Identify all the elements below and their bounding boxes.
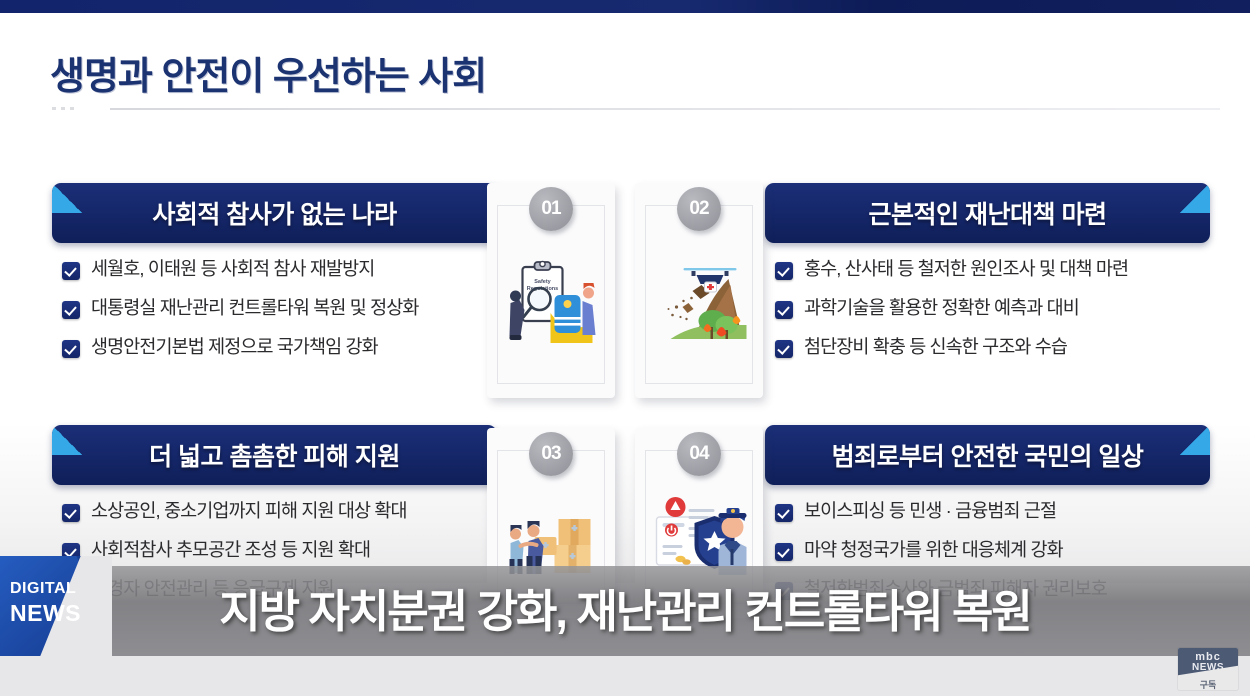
checkbox-icon (62, 504, 80, 522)
checkbox-icon (775, 543, 793, 561)
list-item-label: 소상공인, 중소기업까지 피해 지원 대상 확대 (91, 501, 407, 521)
top-navy-bar (0, 0, 1250, 13)
title-divider-dots (52, 107, 74, 110)
card-number-badge: 03 (529, 432, 573, 476)
panel-header: 범죄로부터 안전한 국민의 일상 (765, 425, 1210, 485)
list-item: 마약 청정국가를 위한 대응체계 강화 (775, 540, 1210, 561)
list-item: 소상공인, 중소기업까지 피해 지원 대상 확대 (62, 501, 497, 522)
bottom-strip (0, 656, 1250, 696)
panel-header-label: 범죄로부터 안전한 국민의 일상 (832, 437, 1144, 473)
title-divider (110, 108, 1220, 110)
list-item: 홍수, 산사태 등 철저한 원인조사 및 대책 마련 (775, 259, 1210, 280)
illustration-card-01: 01 Safety Regulations (487, 183, 615, 398)
card-number-badge: 02 (677, 187, 721, 231)
illustration-card-group: 01 Safety Regulations (487, 173, 767, 583)
checkbox-icon (62, 301, 80, 319)
digital-news-logo: DIGITAL NEWS (0, 556, 112, 656)
list-item-label: 대통령실 재난관리 컨트롤타워 복원 및 정상화 (91, 298, 418, 318)
list-item: 대통령실 재난관리 컨트롤타워 복원 및 정상화 (62, 298, 497, 319)
panel-header: 근본적인 재난대책 마련 (765, 183, 1210, 243)
list-item: 사회적참사 추모공간 조성 등 지원 확대 (62, 540, 497, 561)
logo-line-top: DIGITAL (10, 580, 76, 598)
checkbox-icon (62, 340, 80, 358)
list-item-label: 생명안전기본법 제정으로 국가책임 강화 (91, 337, 378, 357)
checkbox-icon (775, 340, 793, 358)
panel-top-right: 근본적인 재난대책 마련 홍수, 산사태 등 철저한 원인조사 및 대책 마련 … (765, 183, 1210, 376)
list-item-label: 첨단장비 확충 등 신속한 구조와 수습 (804, 337, 1067, 357)
checkbox-icon (775, 301, 793, 319)
checkbox-icon (775, 262, 793, 280)
list-item-label: 보이스피싱 등 민생 · 금융범죄 근절 (804, 501, 1056, 521)
corner-accent-icon (52, 183, 82, 213)
illustration-card-02: 02 (635, 183, 763, 398)
panel-header-label: 더 넓고 촘촘한 피해 지원 (149, 437, 400, 473)
panel-header-label: 근본적인 재난대책 마련 (869, 195, 1107, 231)
caption-text: 지방 자치분권 강화, 재난관리 컨트롤타워 복원 (0, 575, 1250, 640)
list-item-label: 사회적참사 추모공간 조성 등 지원 확대 (91, 540, 370, 560)
card-number-badge: 01 (529, 187, 573, 231)
panel-header: 더 넓고 촘촘한 피해 지원 (52, 425, 497, 485)
panel-header: 사회적 참사가 없는 나라 (52, 183, 497, 243)
list-item-label: 홍수, 산사태 등 철저한 원인조사 및 대책 마련 (804, 259, 1128, 279)
checkbox-icon (775, 504, 793, 522)
broadcast-slide-frame: 생명과 안전이 우선하는 사회 사회적 참사가 없는 나라 세월호, 이태원 등… (0, 0, 1250, 696)
watermark-subscribe-label: 구독 (1178, 678, 1238, 690)
checkbox-icon (62, 262, 80, 280)
drone-landslide-wildfire-icon (647, 251, 752, 351)
list-item: 과학기술을 활용한 정확한 예측과 대비 (775, 298, 1210, 319)
panel-item-list: 홍수, 산사태 등 철저한 원인조사 및 대책 마련 과학기술을 활용한 정확한… (765, 259, 1210, 358)
corner-accent-icon (1180, 183, 1210, 213)
list-item: 세월호, 이태원 등 사회적 참사 재발방지 (62, 259, 497, 280)
list-item: 첨단장비 확충 등 신속한 구조와 수습 (775, 337, 1210, 358)
page-title: 생명과 안전이 우선하는 사회 (50, 45, 486, 100)
corner-accent-icon (52, 425, 82, 455)
corner-accent-icon (1180, 425, 1210, 455)
safety-regulations-clipboard-icon: Safety Regulations (499, 251, 604, 351)
list-item: 생명안전기본법 제정으로 국가책임 강화 (62, 337, 497, 358)
panel-top-left: 사회적 참사가 없는 나라 세월호, 이태원 등 사회적 참사 재발방지 대통령… (52, 183, 497, 376)
presentation-slide: 생명과 안전이 우선하는 사회 사회적 참사가 없는 나라 세월호, 이태원 등… (0, 13, 1250, 583)
list-item-label: 과학기술을 활용한 정확한 예측과 대비 (804, 298, 1079, 318)
panel-header-label: 사회적 참사가 없는 나라 (152, 195, 396, 231)
mbc-news-watermark: mbc NEWS 구독 (1178, 648, 1238, 690)
list-item: 보이스피싱 등 민생 · 금융범죄 근절 (775, 501, 1210, 522)
list-item-label: 세월호, 이태원 등 사회적 참사 재발방지 (91, 259, 374, 279)
list-item-label: 마약 청정국가를 위한 대응체계 강화 (804, 540, 1063, 560)
card-number-badge: 04 (677, 432, 721, 476)
panel-item-list: 세월호, 이태원 등 사회적 참사 재발방지 대통령실 재난관리 컨트롤타워 복… (52, 259, 497, 358)
svg-text:Safety: Safety (534, 279, 551, 285)
logo-line-bottom: NEWS (10, 600, 81, 627)
